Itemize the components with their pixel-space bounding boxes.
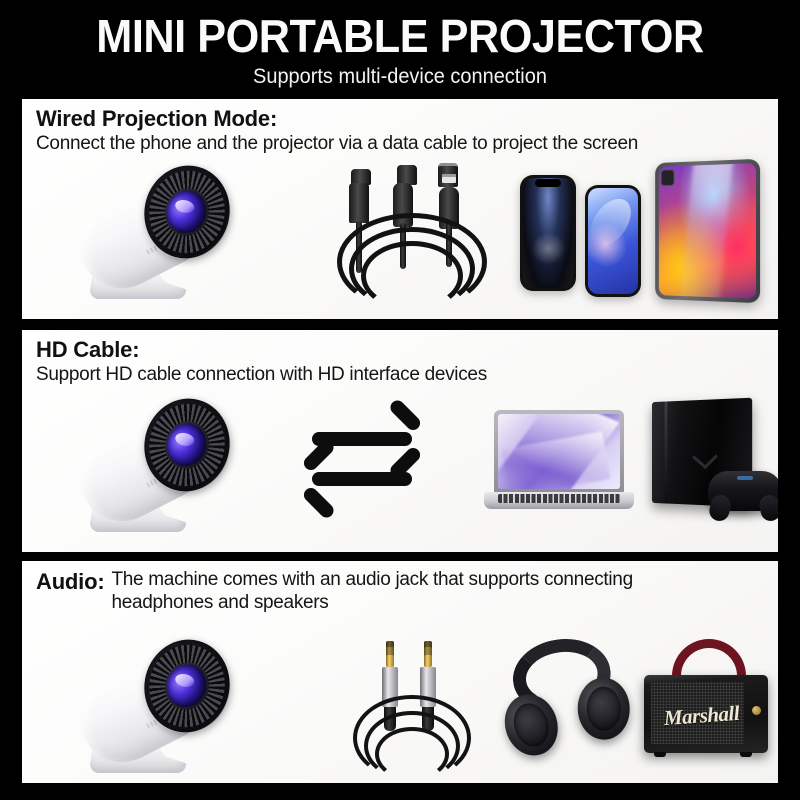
game-console — [642, 400, 778, 515]
phone-notch — [535, 179, 561, 187]
panel-description: Support HD cable connection with HD inte… — [36, 363, 768, 386]
smartphone-blue — [585, 185, 641, 297]
panel-title: Wired Projection Mode: — [36, 106, 768, 132]
panel-hd-cable: HD Cable: Support HD cable connection wi… — [22, 330, 778, 552]
lens-glint — [174, 198, 196, 214]
header: MINI PORTABLE PROJECTOR Supports multi-d… — [0, 0, 800, 96]
tablet-camera-icon — [661, 169, 675, 186]
panel-heading: HD Cable: Support HD cable connection wi… — [36, 337, 768, 386]
laptop-lid — [494, 410, 624, 493]
projector-image — [60, 159, 275, 309]
usb-c-plug-icon — [349, 169, 369, 223]
laptop — [484, 410, 634, 520]
lens-glint — [174, 431, 196, 447]
speaker-body: Marshall — [644, 675, 768, 753]
console-logo-icon — [692, 445, 718, 469]
phone-screen — [523, 178, 573, 288]
speaker-foot — [740, 752, 752, 757]
speaker-brand-logo: Marshall — [663, 700, 740, 730]
panel-title: Audio: — [36, 568, 104, 595]
page-subtitle: Supports multi-device connection — [20, 65, 780, 89]
speaker-foot — [654, 752, 666, 757]
laptop-screen — [498, 414, 620, 489]
product-infographic: MINI PORTABLE PROJECTOR Supports multi-d… — [0, 0, 800, 800]
tablet — [655, 159, 760, 303]
game-controller — [708, 471, 778, 511]
panel-body — [22, 388, 778, 552]
panel-description: Connect the phone and the projector via … — [36, 132, 768, 155]
aux-cable-coil — [352, 729, 472, 781]
headphones — [492, 631, 637, 768]
portable-speaker: Marshall — [638, 639, 778, 759]
projector-image — [60, 392, 275, 542]
data-cable-image — [327, 163, 497, 313]
laptop-keyboard — [498, 494, 620, 503]
transfer-arrows-icon — [312, 416, 432, 508]
lens-glint — [174, 672, 196, 688]
page-title: MINI PORTABLE PROJECTOR — [24, 12, 776, 60]
panel-heading: Wired Projection Mode: Connect the phone… — [36, 106, 768, 155]
cable-coil — [327, 249, 497, 311]
panel-title: HD Cable: — [36, 337, 768, 363]
panel-body — [22, 159, 778, 319]
arrow-left-icon — [312, 472, 412, 486]
panel-description: The machine comes with an audio jack tha… — [111, 568, 711, 614]
aux-cable-image — [352, 641, 472, 781]
phone-screen — [588, 188, 638, 294]
panel-audio: Audio: The machine comes with an audio j… — [22, 561, 778, 783]
headphone-earcup-right — [577, 677, 631, 741]
speaker-knob — [752, 706, 761, 715]
panel-wired-projection-mode: Wired Projection Mode: Connect the phone… — [22, 99, 778, 319]
projector-image — [60, 633, 275, 783]
panel-body: Marshall — [22, 633, 778, 783]
panel-heading: Audio: The machine comes with an audio j… — [36, 568, 768, 614]
controller-lightbar — [737, 476, 753, 480]
smartphone-dark — [520, 175, 576, 291]
